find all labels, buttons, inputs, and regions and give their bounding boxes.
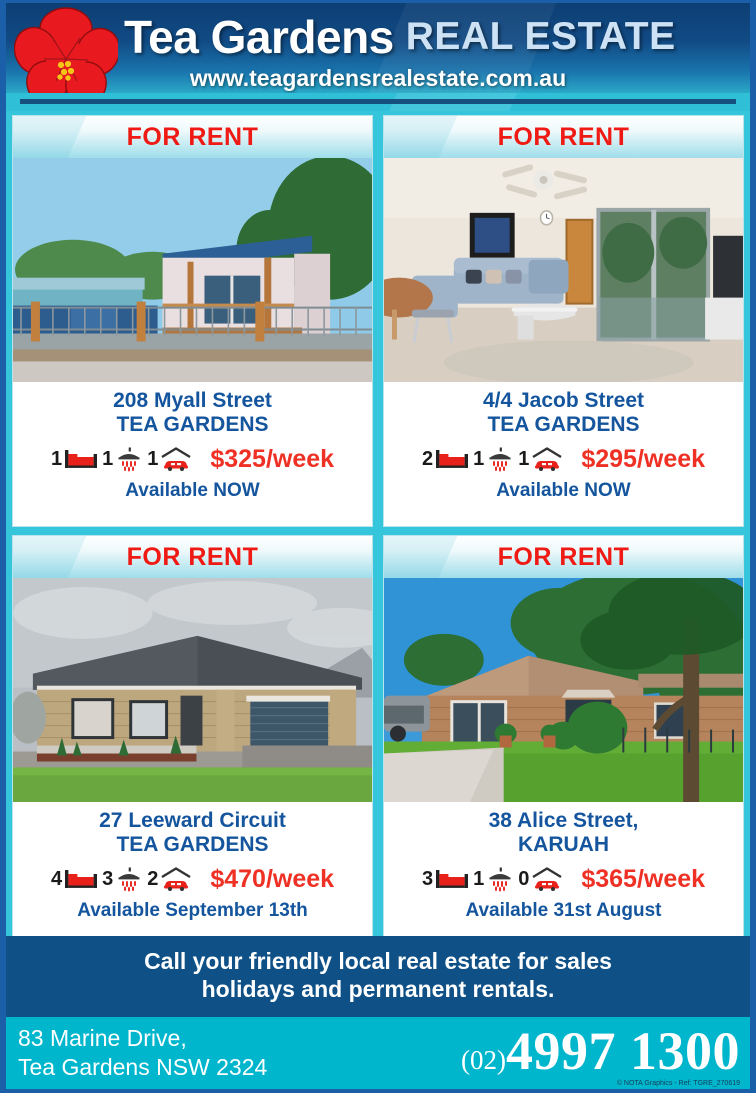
property-specs: 2 1 <box>390 445 737 474</box>
property-address-line2: TEA GARDENS <box>390 413 737 437</box>
header-rule-line <box>20 99 736 104</box>
bathroom-count: 1 <box>473 448 484 471</box>
status-badge: FOR RENT <box>127 123 259 152</box>
property-address-line2: TEA GARDENS <box>19 833 366 857</box>
footer-tagline-line2: holidays and permanent rentals. <box>6 975 750 1004</box>
property-specs: 1 1 <box>19 445 366 474</box>
property-availability: Available September 13th <box>19 900 366 922</box>
status-banner: FOR RENT <box>13 536 372 578</box>
property-card[interactable]: FOR RENT <box>383 115 744 527</box>
footer: Call your friendly local real estate for… <box>6 936 750 1089</box>
property-photo <box>13 158 372 383</box>
bed-icon <box>435 867 469 891</box>
bathroom-count: 1 <box>102 448 113 471</box>
footer-tagline-line1: Call your friendly local real estate for… <box>6 947 750 976</box>
bed-icon <box>64 447 98 471</box>
shower-icon <box>486 866 514 892</box>
real-estate-flyer: Tea Gardens REAL ESTATE www.teagardensre… <box>0 0 756 1093</box>
office-address-line2: Tea Gardens NSW 2324 <box>18 1053 267 1082</box>
property-address-line2: TEA GARDENS <box>19 413 366 437</box>
property-grid: FOR RENT <box>6 111 750 947</box>
spec-bedrooms: 2 <box>422 447 469 471</box>
property-card[interactable]: FOR RENT <box>12 535 373 947</box>
spec-bathrooms: 3 <box>102 866 143 892</box>
property-address-line1: 38 Alice Street, <box>390 809 737 833</box>
status-banner: FOR RENT <box>384 116 743 158</box>
bedroom-count: 3 <box>422 868 433 891</box>
property-info: 208 Myall Street TEA GARDENS 1 <box>13 383 372 502</box>
bedroom-count: 2 <box>422 448 433 471</box>
carspace-count: 1 <box>518 448 529 471</box>
bathroom-count: 3 <box>102 868 113 891</box>
property-photo <box>384 578 743 803</box>
shower-icon <box>115 866 143 892</box>
shower-icon <box>115 446 143 472</box>
shower-icon <box>486 446 514 472</box>
spec-bedrooms: 1 <box>51 447 98 471</box>
property-photo <box>13 578 372 803</box>
bedroom-count: 4 <box>51 868 62 891</box>
property-info: 38 Alice Street, KARUAH 3 <box>384 803 743 922</box>
property-card[interactable]: FOR RENT <box>12 115 373 527</box>
spec-carspaces: 1 <box>518 447 563 471</box>
garage-car-icon <box>160 447 192 471</box>
status-banner-sheen <box>13 536 100 578</box>
garage-car-icon <box>531 447 563 471</box>
property-info: 27 Leeward Circuit TEA GARDENS 4 <box>13 803 372 922</box>
header-banner: Tea Gardens REAL ESTATE www.teagardensre… <box>6 3 750 93</box>
brand-website[interactable]: www.teagardensrealestate.com.au <box>6 65 750 92</box>
office-phone[interactable]: (02)4997 1300 <box>461 1020 740 1082</box>
spec-carspaces: 1 <box>147 447 192 471</box>
garage-car-icon <box>160 867 192 891</box>
bed-icon <box>64 867 98 891</box>
brand-title: Tea Gardens REAL ESTATE <box>124 9 742 65</box>
status-banner: FOR RENT <box>13 116 372 158</box>
phone-number: 4997 1300 <box>506 1021 740 1081</box>
status-banner-sheen <box>384 536 471 578</box>
property-address-line1: 208 Myall Street <box>19 389 366 413</box>
carspace-count: 1 <box>147 448 158 471</box>
footer-contact-bar: 83 Marine Drive, Tea Gardens NSW 2324 (0… <box>6 1017 750 1089</box>
footer-tagline: Call your friendly local real estate for… <box>6 936 750 1017</box>
bedroom-count: 1 <box>51 448 62 471</box>
status-banner-sheen <box>13 116 100 158</box>
carspace-count: 0 <box>518 868 529 891</box>
bed-icon <box>435 447 469 471</box>
spec-bathrooms: 1 <box>473 446 514 472</box>
spec-carspaces: 2 <box>147 867 192 891</box>
status-banner-sheen <box>384 116 471 158</box>
spec-bathrooms: 1 <box>473 866 514 892</box>
property-availability: Available NOW <box>19 480 366 502</box>
property-address-line1: 4/4 Jacob Street <box>390 389 737 413</box>
spec-bathrooms: 1 <box>102 446 143 472</box>
spec-bedrooms: 4 <box>51 867 98 891</box>
property-price: $365/week <box>581 865 705 894</box>
graphics-credit: © NOTA Graphics - Ref: TGRE_270619 <box>617 1080 740 1087</box>
property-info: 4/4 Jacob Street TEA GARDENS 2 <box>384 383 743 502</box>
spec-carspaces: 0 <box>518 867 563 891</box>
property-availability: Available 31st August <box>390 900 737 922</box>
status-badge: FOR RENT <box>498 123 630 152</box>
bathroom-count: 1 <box>473 868 484 891</box>
property-price: $470/week <box>210 865 334 894</box>
garage-car-icon <box>531 867 563 891</box>
property-specs: 4 3 <box>19 865 366 894</box>
status-banner: FOR RENT <box>384 536 743 578</box>
property-card[interactable]: FOR RENT <box>383 535 744 947</box>
brand-name-sub: REAL ESTATE <box>406 15 676 59</box>
property-address-line2: KARUAH <box>390 833 737 857</box>
property-availability: Available NOW <box>390 480 737 502</box>
header-divider <box>6 93 750 111</box>
property-specs: 3 1 <box>390 865 737 894</box>
property-price: $325/week <box>210 445 334 474</box>
property-price: $295/week <box>581 445 705 474</box>
property-address-line1: 27 Leeward Circuit <box>19 809 366 833</box>
status-badge: FOR RENT <box>127 543 259 572</box>
carspace-count: 2 <box>147 868 158 891</box>
property-photo <box>384 158 743 383</box>
office-address-line1: 83 Marine Drive, <box>18 1024 267 1053</box>
status-badge: FOR RENT <box>498 543 630 572</box>
brand-name-main: Tea Gardens <box>124 10 394 64</box>
phone-area-code: (02) <box>461 1045 506 1075</box>
spec-bedrooms: 3 <box>422 867 469 891</box>
office-address: 83 Marine Drive, Tea Gardens NSW 2324 <box>18 1024 267 1082</box>
